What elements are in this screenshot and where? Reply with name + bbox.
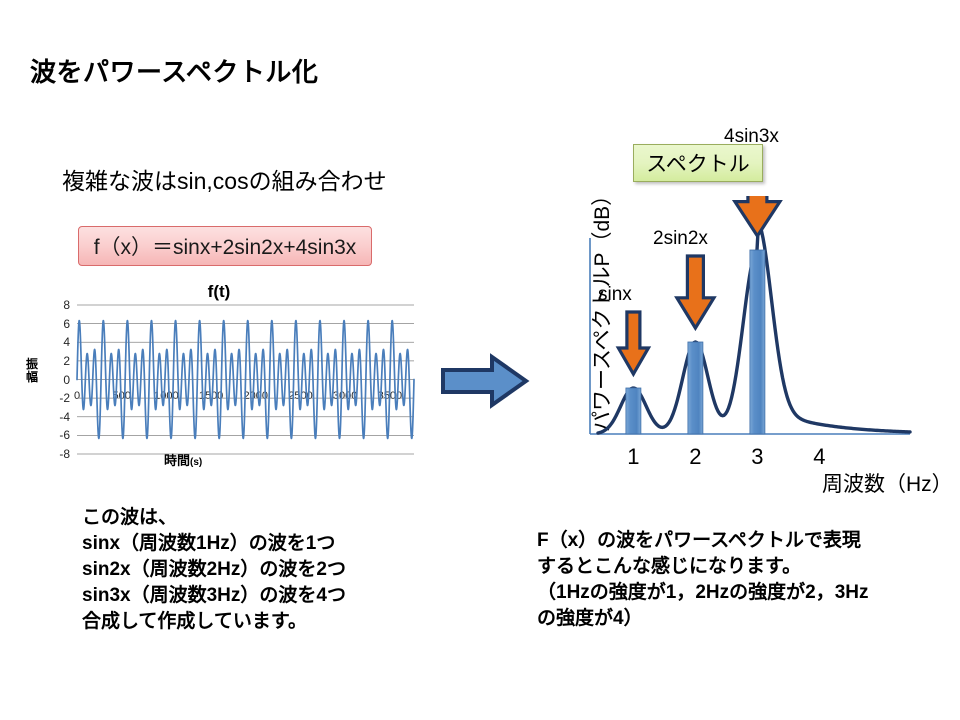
spectrum-badge: スペクトル: [633, 144, 763, 182]
right-arrow-icon: [443, 357, 526, 405]
spectrum-x-tick-label: 4: [805, 444, 833, 470]
slide-canvas: 波をパワースペクトル化 複雑な波はsin,cosの組み合わせ f（x）＝sinx…: [0, 0, 960, 720]
waveform-plot: [14, 282, 424, 477]
page-title: 波をパワースペクトル化: [30, 52, 318, 89]
spectrum-peak-label: sinx: [598, 284, 632, 306]
spectrum-bar: [688, 342, 703, 434]
spectrum-peak-label: 2sin2x: [653, 228, 708, 250]
intro-text: 複雑な波はsin,cosの組み合わせ: [62, 162, 387, 196]
spectrum-x-tick-label: 2: [681, 444, 709, 470]
spectrum-peak-label: 4sin3x: [724, 126, 779, 148]
spectrum-badge-label: スペクトル: [646, 148, 750, 178]
down-arrow-icon: [677, 256, 714, 328]
formula-box: f（x）＝sinx+2sin2x+4sin3x: [78, 226, 372, 266]
spectrum-bar: [626, 388, 641, 434]
waveform-x-axis-label: 時間(s): [164, 450, 202, 469]
spectrum-x-tick-label: 3: [743, 444, 771, 470]
down-arrow-icon: [618, 312, 648, 374]
power-spectrum-chart: パワースペクトルP（dB） 1234 sinx2sin2x4sin3x 周波数（…: [560, 196, 950, 496]
spectrum-x-tick-label: 1: [619, 444, 647, 470]
waveform-chart: f(t) 振 幅 86420-2-4-6-8 05001000150020002…: [14, 282, 424, 477]
spectrum-x-axis-label: 周波数（Hz）: [822, 468, 953, 498]
spectrum-bar: [750, 250, 765, 434]
formula-text: f（x）＝sinx+2sin2x+4sin3x: [94, 231, 357, 261]
transition-arrow: [440, 352, 530, 410]
note-right-text: F（x）の波をパワースペクトルで表現 するとこんな感じになります。 （1Hzの強…: [537, 528, 869, 632]
note-left-text: この波は、 sinx（周波数1Hz）の波を1つ sin2x（周波数2Hz）の波を…: [82, 505, 346, 635]
waveform-x-axis-unit: (s): [190, 457, 202, 468]
down-arrow-icon: [735, 196, 780, 236]
waveform-x-axis-label-text: 時間: [164, 453, 190, 468]
